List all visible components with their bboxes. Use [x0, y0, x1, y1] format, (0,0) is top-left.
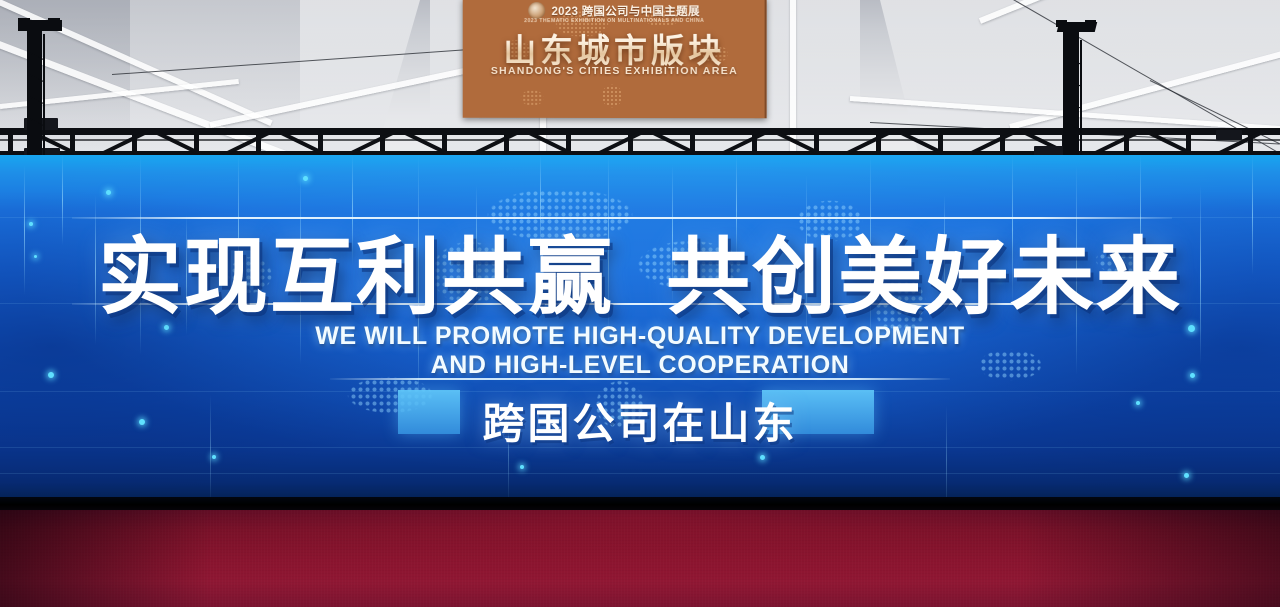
led-video-wall: 实现互利共赢共创美好未来 WE WILL PROMOTE HIGH-QUALIT… [0, 155, 1280, 503]
led-sub-headline: 跨国公司在山东 [0, 390, 1280, 451]
carpet-shadow-left [0, 510, 210, 607]
glow-particle [520, 465, 524, 469]
led-english-line-1: WE WILL PROMOTE HIGH-QUALITY DEVELOPMENT [0, 322, 1280, 351]
glow-particle [212, 455, 216, 459]
english-underline-rule [330, 378, 950, 380]
headline-phrase-right: 共创美好未来 [666, 228, 1182, 326]
led-headline: 实现互利共赢共创美好未来 [0, 210, 1280, 331]
exhibition-stage-scene: 2023 跨国公司与中国主题展 2023 THEMATIC EXHIBITION… [0, 0, 1280, 607]
banner-header-cn: 2023 跨国公司与中国主题展 [551, 2, 699, 18]
stage-light-fixture [1216, 130, 1242, 140]
truss-mid-rail [0, 139, 1280, 141]
led-english-line-2: AND HIGH-LEVEL COOPERATION [0, 351, 1280, 380]
glow-particle [760, 455, 765, 460]
exhibition-emblem-icon [529, 2, 546, 19]
glow-particle [106, 190, 111, 195]
stage-truss [0, 112, 1280, 160]
carpet-shadow-right [1020, 510, 1280, 607]
hanging-exhibition-banner: 2023 跨国公司与中国主题展 2023 THEMATIC EXHIBITION… [463, 0, 767, 118]
glow-particle [303, 176, 308, 181]
stage-front-edge [0, 497, 1280, 510]
glow-particle [1184, 473, 1189, 478]
banner-title-en: SHANDONG'S CITIES EXHIBITION AREA [463, 65, 767, 77]
headline-phrase-left: 实现互利共赢 [98, 228, 614, 326]
banner-edge-shadow [765, 0, 767, 118]
